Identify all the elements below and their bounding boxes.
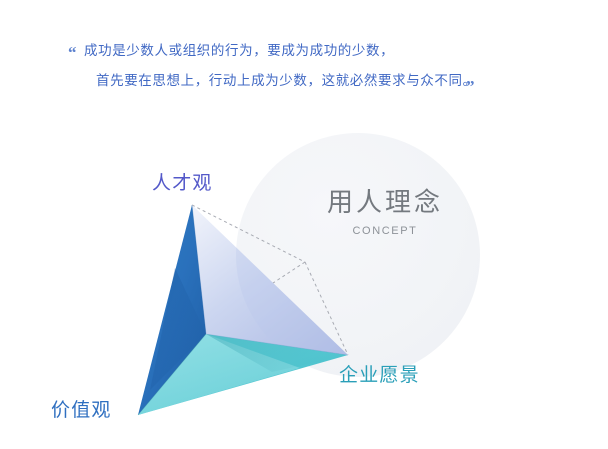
concept-title-cn: 用人理念 [300, 188, 470, 218]
slide-canvas: “ 成功是少数人或组织的行为，要成为成功的少数， 首先要在思想上，行动上成为少数… [0, 0, 608, 449]
concept-text-group: 用人理念 CONCEPT [300, 188, 470, 237]
concept-title-en: CONCEPT [300, 225, 470, 237]
label-values-view: 价值观 [51, 395, 112, 422]
label-enterprise-vision: 企业愿景 [339, 360, 420, 387]
label-talent-view: 人才观 [152, 168, 213, 195]
